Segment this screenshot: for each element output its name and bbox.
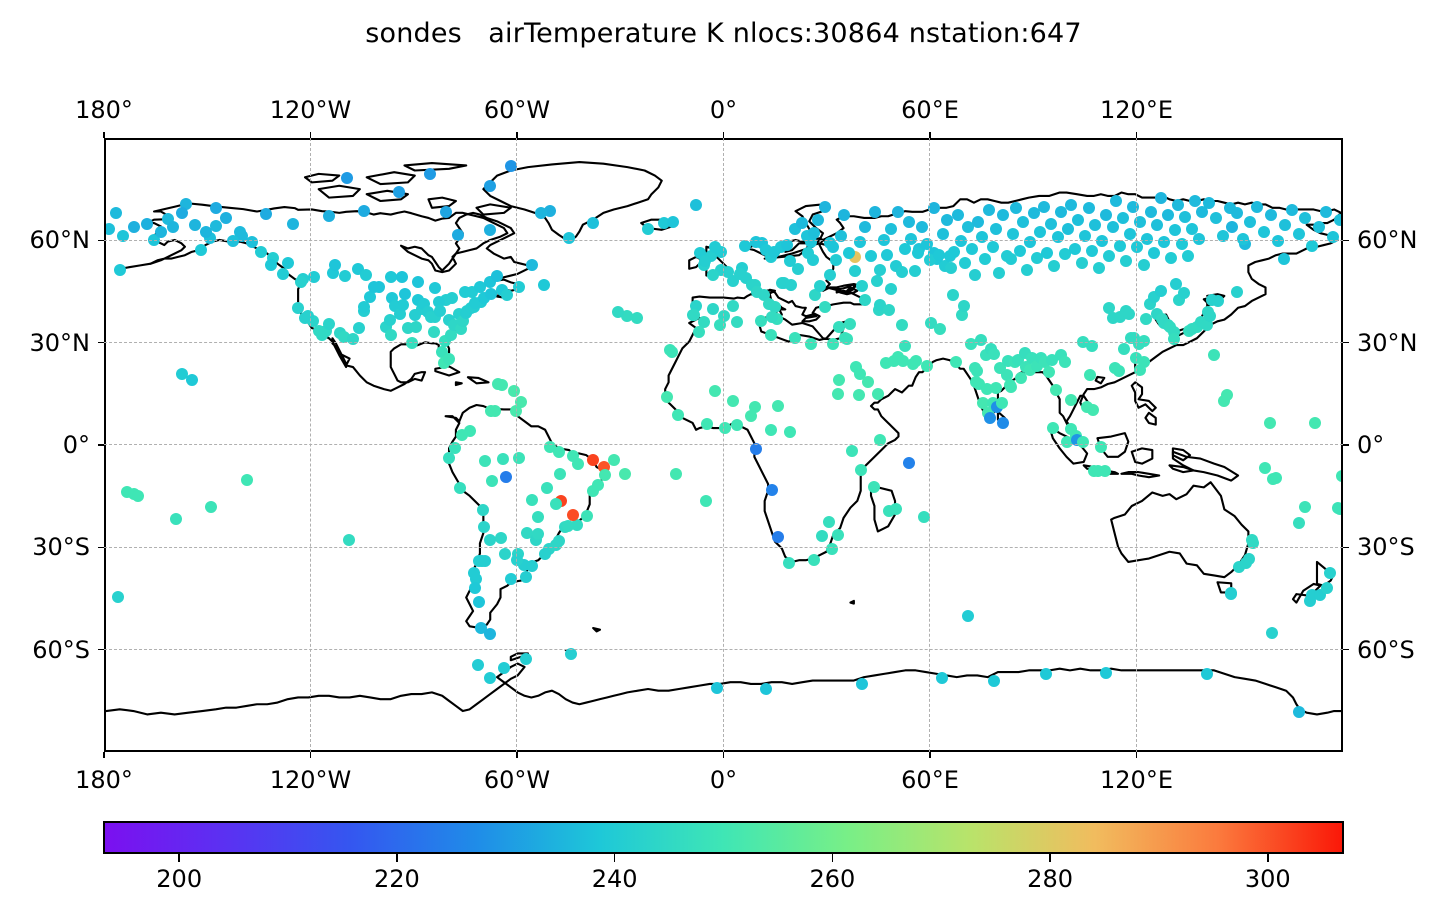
x-tick-label-bottom: 60°W (484, 766, 550, 794)
scatter-point (581, 510, 593, 522)
scatter-point (1021, 264, 1033, 276)
scatter-point (1076, 257, 1088, 269)
scatter-point (1017, 216, 1029, 228)
x-tick-top (103, 132, 104, 138)
scatter-point (1243, 553, 1255, 565)
scatter-point (1077, 436, 1089, 448)
scatter-point (823, 516, 835, 528)
scatter-point (1123, 308, 1135, 320)
scatter-point (1124, 228, 1136, 240)
scatter-point (176, 207, 188, 219)
y-tick-label-left: 60°N (30, 226, 91, 254)
x-tick-top (723, 132, 724, 138)
scatter-point (990, 223, 1002, 235)
x-tick-bottom (1136, 752, 1137, 758)
scatter-point (690, 199, 702, 211)
scatter-point (997, 209, 1009, 221)
x-tick-label-bottom: 0° (710, 766, 737, 794)
scatter-point (592, 479, 604, 491)
scatter-point (491, 270, 503, 282)
scatter-point (1083, 202, 1095, 214)
y-tick-left (98, 342, 104, 343)
scatter-point (937, 228, 949, 240)
scatter-point (287, 218, 299, 230)
colorbar-tick (178, 854, 180, 862)
scatter-point (520, 571, 532, 583)
scatter-point (1087, 404, 1099, 416)
scatter-point (1265, 209, 1277, 221)
scatter-point (479, 555, 491, 567)
scatter-point (784, 426, 796, 438)
colorbar-tick-label: 260 (809, 865, 855, 893)
x-tick-bottom (310, 752, 311, 758)
scatter-point (1084, 369, 1096, 381)
scatter-point (353, 322, 365, 334)
scatter-point (1231, 207, 1243, 219)
scatter-point (975, 334, 987, 346)
scatter-point (865, 250, 877, 262)
scatter-point (132, 490, 144, 502)
scatter-point (295, 276, 307, 288)
scatter-point (854, 236, 866, 248)
scatter-point (1113, 365, 1125, 377)
scatter-point (1114, 240, 1126, 252)
x-tick-bottom (723, 752, 724, 758)
scatter-point (373, 281, 385, 293)
colorbar-frame (103, 821, 1344, 854)
scatter-point (936, 672, 948, 684)
y-tick-label-right: 0° (1357, 431, 1384, 459)
scatter-point (1226, 221, 1238, 233)
scatter-point (399, 288, 411, 300)
colorbar-tick-label: 280 (1027, 865, 1073, 893)
scatter-point (1014, 245, 1026, 257)
scatter-point (1165, 252, 1177, 264)
scatter-point (719, 422, 731, 434)
scatter-point (1038, 201, 1050, 213)
scatter-point (1179, 211, 1191, 223)
scatter-point (360, 269, 372, 281)
scatter-point (672, 409, 684, 421)
gridline-horizontal (104, 649, 1343, 650)
gridline-horizontal (104, 444, 1343, 445)
scatter-point (323, 318, 335, 330)
scatter-point (393, 186, 405, 198)
scatter-point (550, 498, 562, 510)
colorbar-tick (614, 854, 616, 862)
scatter-point (1212, 295, 1224, 307)
scatter-point (1086, 245, 1098, 257)
scatter-point (112, 591, 124, 603)
y-tick-label-right: 60°S (1357, 636, 1415, 664)
scatter-point (1336, 470, 1341, 482)
colorbar-tick-label: 200 (156, 865, 202, 893)
scatter-point (292, 302, 304, 314)
y-tick-right (1343, 240, 1349, 241)
scatter-point (844, 318, 856, 330)
x-tick-bottom (516, 752, 517, 758)
scatter-point (1005, 381, 1017, 393)
scatter-point (760, 683, 772, 695)
scatter-point (832, 388, 844, 400)
scatter-point (1052, 231, 1064, 243)
scatter-point (642, 223, 654, 235)
scatter-point (934, 323, 946, 335)
scatter-point (785, 279, 797, 291)
x-tick-label-top: 120°W (270, 96, 352, 124)
x-tick-top (310, 132, 311, 138)
scatter-point (1178, 287, 1190, 299)
x-tick-label-top: 60°E (901, 96, 959, 124)
scatter-point (313, 325, 325, 337)
scatter-point (843, 247, 855, 259)
scatter-point (874, 264, 886, 276)
scatter-point (478, 521, 490, 533)
scatter-point (497, 453, 509, 465)
scatter-point (329, 259, 341, 271)
scatter-point (819, 201, 831, 213)
scatter-point (765, 329, 777, 341)
scatter-point (562, 520, 574, 532)
scatter-point (667, 216, 679, 228)
scatter-point (976, 231, 988, 243)
scatter-point (429, 282, 441, 294)
scatter-point (1148, 247, 1160, 259)
scatter-point (205, 501, 217, 513)
y-tick-right (1343, 444, 1349, 445)
y-tick-right (1343, 342, 1349, 343)
scatter-point (484, 224, 496, 236)
scatter-point (1251, 201, 1263, 213)
y-tick-left (98, 444, 104, 445)
x-tick-bottom (103, 752, 104, 758)
scatter-point (856, 678, 868, 690)
y-tick-label-left: 60°S (32, 636, 90, 664)
scatter-point (711, 682, 723, 694)
scatter-point (701, 418, 713, 430)
scatter-point (200, 226, 212, 238)
scatter-point (1059, 356, 1071, 368)
scatter-point (385, 329, 397, 341)
scatter-point (890, 503, 902, 515)
scatter-point (210, 202, 222, 214)
scatter-point (772, 400, 784, 412)
scatter-point (608, 454, 620, 466)
gridline-horizontal (104, 342, 1343, 343)
scatter-point (511, 554, 523, 566)
scatter-point (1306, 240, 1318, 252)
scatter-point (587, 454, 599, 466)
colorbar-tick-label: 220 (374, 865, 420, 893)
gridline-horizontal (104, 547, 1343, 548)
scatter-point (1138, 335, 1150, 347)
scatter-point (1093, 262, 1105, 274)
scatter-point (859, 221, 871, 233)
y-tick-right (1343, 649, 1349, 650)
x-tick-label-top: 180° (75, 96, 133, 124)
scatter-point (227, 235, 239, 247)
scatter-point (499, 548, 511, 560)
colorbar-tick (1049, 854, 1051, 862)
scatter-point (167, 221, 179, 233)
scatter-point (1138, 356, 1150, 368)
x-tick-top (1136, 132, 1137, 138)
scatter-point (1293, 517, 1305, 529)
scatter-point (996, 397, 1008, 409)
scatter-point (784, 255, 796, 267)
scatter-point (1100, 667, 1112, 679)
scatter-point (1155, 192, 1167, 204)
scatter-point (916, 221, 928, 233)
x-tick-top (929, 132, 930, 138)
scatter-point (396, 271, 408, 283)
scatter-point (805, 338, 817, 350)
scatter-point (838, 209, 850, 221)
scatter-point (1169, 224, 1181, 236)
scatter-point (484, 180, 496, 192)
scatter-point (699, 255, 711, 267)
scatter-point (1293, 228, 1305, 240)
scatter-point (959, 257, 971, 269)
scatter-point (808, 554, 820, 566)
y-tick-label-left: 30°S (32, 533, 90, 561)
scatter-point (903, 457, 915, 469)
colorbar-tick (832, 854, 834, 862)
scatter-point (513, 281, 525, 293)
scatter-point (358, 205, 370, 217)
scatter-point (885, 283, 897, 295)
scatter-point (1069, 243, 1081, 255)
scatter-point (412, 276, 424, 288)
scatter-point (1155, 285, 1167, 297)
scatter-point (486, 475, 498, 487)
scatter-point (1272, 235, 1284, 247)
y-tick-label-right: 30°S (1357, 533, 1415, 561)
scatter-point (766, 484, 778, 496)
scatter-point (484, 672, 496, 684)
scatter-point (501, 289, 513, 301)
scatter-point (966, 243, 978, 255)
scatter-point (1107, 221, 1119, 233)
scatter-point (827, 241, 839, 253)
scatter-point (1221, 389, 1233, 401)
x-tick-top (516, 132, 517, 138)
scatter-point (855, 464, 867, 476)
colorbar[interactable] (103, 821, 1344, 854)
scatter-point (1100, 209, 1112, 221)
scatter-point (1096, 235, 1108, 247)
scatter-point (472, 659, 484, 671)
scatter-point (1334, 214, 1341, 226)
scatter-point (170, 513, 182, 525)
colorbar-tick (396, 854, 398, 862)
scatter-point (1270, 472, 1282, 484)
scatter-point (1040, 668, 1052, 680)
x-tick-label-top: 0° (710, 96, 737, 124)
scatter-point (819, 301, 831, 313)
scatter-point (1320, 206, 1332, 218)
scatter-point (339, 270, 351, 282)
scatter-point (766, 311, 778, 323)
y-tick-left (98, 240, 104, 241)
scatter-point (323, 210, 335, 222)
x-tick-label-bottom: 120°W (270, 766, 352, 794)
scatter-point (952, 209, 964, 221)
colorbar-gradient (105, 823, 1342, 852)
scatter-point (1334, 503, 1341, 515)
scatter-point (1041, 247, 1053, 259)
scatter-point (1138, 259, 1150, 271)
scatter-point (1007, 228, 1019, 240)
scatter-point (535, 207, 547, 219)
scatter-point (1231, 286, 1243, 298)
y-tick-label-left: 30°N (30, 329, 91, 357)
scatter-point (469, 582, 481, 594)
scatter-point (670, 468, 682, 480)
scatter-point (141, 218, 153, 230)
x-tick-label-bottom: 120°E (1100, 766, 1173, 794)
scatter-point (885, 223, 897, 235)
scatter-point (532, 511, 544, 523)
scatter-point (454, 482, 466, 494)
colorbar-tick (1267, 854, 1269, 862)
y-tick-left (98, 649, 104, 650)
scatter-point (892, 206, 904, 218)
scatter-point (731, 316, 743, 328)
scatter-point (661, 391, 673, 403)
scatter-point (1145, 206, 1157, 218)
scatter-point (883, 304, 895, 316)
scatter-point (277, 268, 289, 280)
scatter-point (1127, 201, 1139, 213)
scatter-point (731, 419, 743, 431)
scatter-point (532, 528, 544, 540)
scatter-point (983, 204, 995, 216)
scatter-point (1062, 223, 1074, 235)
scatter-point (1050, 384, 1062, 396)
scatter-point (749, 401, 761, 413)
scatter-point (619, 468, 631, 480)
scatter-point (1279, 219, 1291, 231)
scatter-point (997, 417, 1009, 429)
scatter-point (538, 279, 550, 291)
scatter-point (958, 300, 970, 312)
y-tick-left (98, 547, 104, 548)
scatter-point (1095, 441, 1107, 453)
scatter-point (255, 246, 267, 258)
scatter-point (260, 208, 272, 220)
scatter-point (128, 221, 140, 233)
scatter-point (195, 244, 207, 256)
scatter-point (796, 217, 808, 229)
colorbar-tick-label: 240 (592, 865, 638, 893)
y-tick-label-right: 60°N (1357, 226, 1418, 254)
scatter-point (765, 424, 777, 436)
scatter-point (1045, 218, 1057, 230)
scatter-point (947, 289, 959, 301)
scatter-point (553, 446, 565, 458)
scatter-point (707, 303, 719, 315)
scatter-point (909, 265, 921, 277)
scatter-point (1321, 582, 1333, 594)
x-tick-label-bottom: 180° (75, 766, 133, 794)
scatter-point (553, 535, 565, 547)
scatter-point (783, 557, 795, 569)
scatter-point (859, 294, 871, 306)
scatter-point (496, 379, 508, 391)
scatter-point (755, 315, 767, 327)
gridline-horizontal (104, 240, 1343, 241)
x-tick-label-top: 60°W (484, 96, 550, 124)
scatter-point (727, 395, 739, 407)
scatter-point (114, 264, 126, 276)
scatter-point (1309, 417, 1321, 429)
scatter-point (1208, 349, 1220, 361)
scatter-point (1324, 567, 1336, 579)
x-tick-label-bottom: 60°E (901, 766, 959, 794)
scatter-point (541, 482, 553, 494)
scatter-point (539, 548, 551, 560)
scatter-point (520, 653, 532, 665)
scatter-point (962, 610, 974, 622)
x-tick-label-top: 120°E (1100, 96, 1173, 124)
scatter-point (1043, 366, 1055, 378)
scatter-point (587, 217, 599, 229)
colorbar-tick-label: 300 (1245, 865, 1291, 893)
scatter-point (500, 471, 512, 483)
x-tick-bottom (929, 752, 930, 758)
scatter-point (1140, 313, 1152, 325)
scatter-point (862, 376, 874, 388)
scatter-point (896, 266, 908, 278)
page-title: sondes airTemperature K nlocs:30864 nsta… (0, 18, 1447, 49)
scatter-point (406, 337, 418, 349)
scatter-point (903, 216, 915, 228)
scatter-point (599, 469, 611, 481)
scatter-point (849, 265, 861, 277)
scatter-point (832, 529, 844, 541)
scatter-point (1172, 199, 1184, 211)
scatter-point (816, 530, 828, 542)
scatter-point (910, 355, 922, 367)
scatter-point (990, 382, 1002, 394)
scatter-point (868, 481, 880, 493)
y-tick-label-left: 0° (63, 431, 90, 459)
scatter-point (955, 235, 967, 247)
scatter-point (443, 353, 455, 365)
scatter-point (1162, 209, 1174, 221)
scatter-point (513, 452, 525, 464)
scatter-point (343, 534, 355, 546)
scatter-point (1286, 204, 1298, 216)
y-tick-label-right: 30°N (1357, 329, 1418, 357)
y-tick-right (1343, 547, 1349, 548)
scatter-point (988, 675, 1000, 687)
scatter-point (830, 254, 842, 266)
